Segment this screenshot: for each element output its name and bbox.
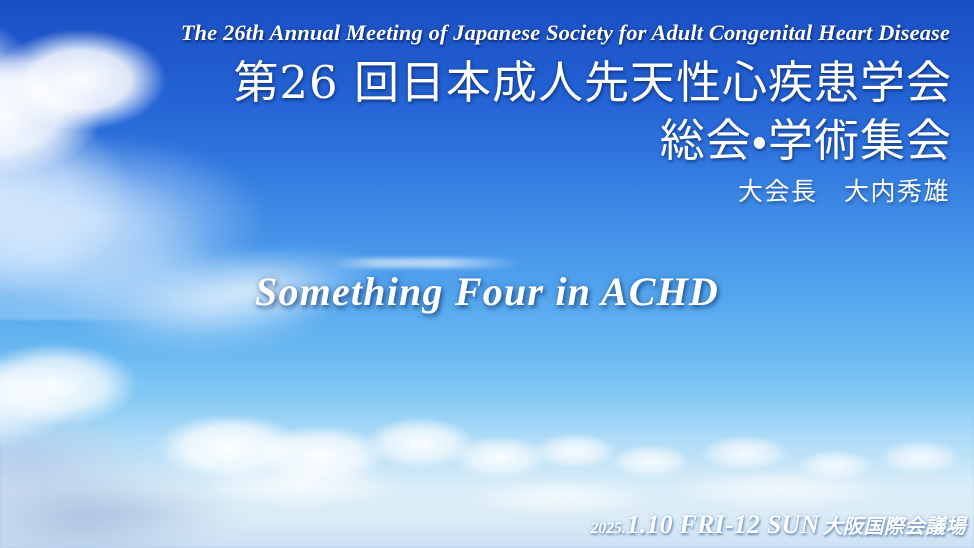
conference-banner: The 26th Annual Meeting of Japanese Soci… — [0, 0, 974, 548]
japanese-title-line-1: 第26 回日本成人先天性心疾患学会 — [233, 54, 952, 112]
footer-date-range: 1.10 FRI-12 SUN — [626, 510, 820, 540]
english-tagline: The 26th Annual Meeting of Japanese Soci… — [0, 20, 950, 46]
footer-year: 2025. — [591, 520, 626, 538]
conference-theme: Something Four in ACHD — [0, 268, 974, 315]
banner-content: The 26th Annual Meeting of Japanese Soci… — [0, 0, 974, 548]
congress-president-line: 大会長 大内秀雄 — [738, 172, 950, 208]
footer-venue: 大阪国際会議場 — [820, 510, 967, 539]
date-venue-footer: 2025. 1.10 FRI-12 SUN 大阪国際会議場 — [591, 510, 967, 540]
japanese-title-line-2: 総会・学術集会 — [233, 112, 952, 170]
japanese-title-block: 第26 回日本成人先天性心疾患学会 総会・学術集会 — [233, 54, 952, 170]
